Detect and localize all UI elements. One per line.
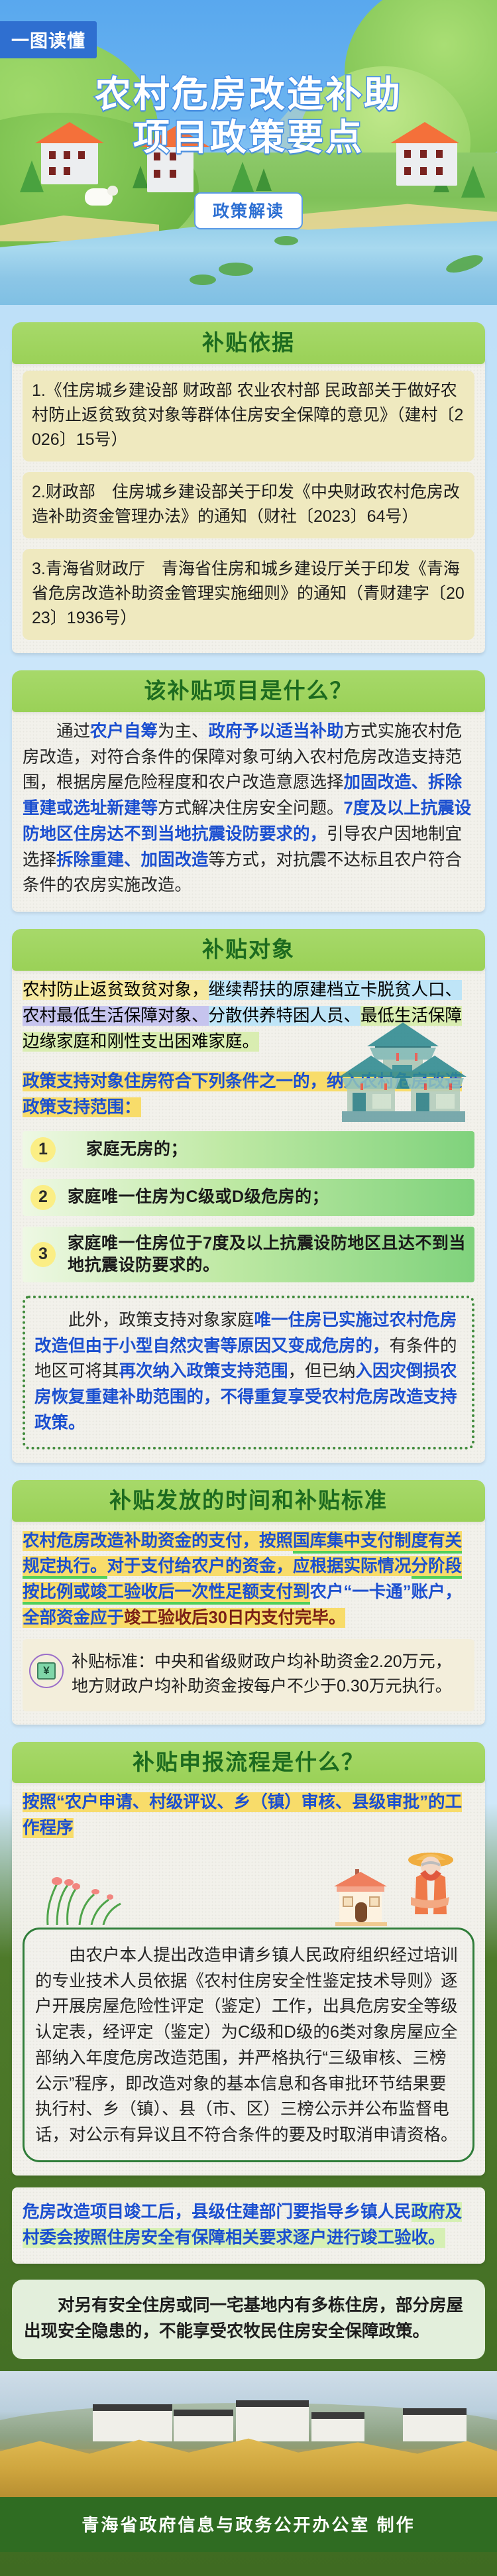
condition-number: 2 <box>30 1185 56 1210</box>
section-what-header: 该补贴项目是什么？ <box>12 670 485 712</box>
section-completion: 危房改造项目竣工后，县级住建部门要指导乡镇人民政府及村委会按照住房安全有保障相关… <box>0 2187 497 2264</box>
hero-banner: 一图读懂 农村危房改造补助 项目政策要点 政策解读 <box>0 0 497 305</box>
target-condition-row: 1 家庭无房的； <box>23 1131 474 1168</box>
highlighted-run: 农村危房改造补助资金的支付，按照 <box>23 1531 293 1551</box>
lilypad-icon <box>190 275 216 285</box>
text-run: 为主、 <box>158 722 209 741</box>
condition-text: 家庭唯一住房为C级或D级危房的； <box>68 1186 329 1208</box>
footer-bar: 青海省政府信息与政务公开办公室 制作 <box>0 2497 497 2552</box>
section-targets-body: 农村防止返贫致贫对象，继续帮扶的原建档立卡脱贫人口、农村最低生活保障对象、分散供… <box>12 965 485 1463</box>
highlighted-run: 农户“一卡通”账户， <box>310 1583 463 1601</box>
page-title: 农村危房改造补助 项目政策要点 <box>0 73 497 159</box>
infographic-page: 一图读懂 农村危房改造补助 项目政策要点 政策解读 补贴依据 1.《住房城乡建设… <box>0 0 497 2576</box>
final-note-card: 对另有安全住房或同一宅基地内有多栋住房，部分房屋出现安全隐患的，不能享受农牧民住… <box>12 2280 485 2359</box>
section-process-header: 补贴申报流程是什么？ <box>12 1742 485 1784</box>
payment-rule-line: 农村危房改造补助资金的支付，按照国库集中支付制度有关规定执行。对于支付给农户的资… <box>23 1528 474 1631</box>
section-targets: 补贴对象 农村防止返贫致贫对象，继续帮扶的原建档立卡脱贫人口、农村最低生活保障对… <box>0 929 497 1462</box>
basis-note-2: 2.财政部 住房城乡建设部关于印发《中央财政农村危房改造补助资金管理办法》的通知… <box>23 472 474 538</box>
lilypad-icon <box>219 263 253 276</box>
money-note-icon: ¥ <box>29 1654 64 1688</box>
section-time-standard-header: 补贴发放的时间和补贴标准 <box>12 1480 485 1522</box>
basis-note-1: 1.《住房城乡建设部 财政部 农业农村部 民政部关于做好农村防止返贫致贫对象等群… <box>23 371 474 461</box>
section-basis-header: 补贴依据 <box>12 322 485 364</box>
subsidy-standard-card: ¥ 补贴标准：中央和省级财政户均补助资金2.20万元，地方财政户均补助资金按每户… <box>23 1639 474 1711</box>
read-in-one-image-badge: 一图读懂 <box>0 21 97 58</box>
section-what-title: 该补贴项目是什么？ <box>19 678 478 704</box>
highlighted-run: 对于支付给农户的资金，应根据实际情况 <box>107 1556 412 1576</box>
farmer-illustration <box>396 1845 465 1928</box>
section-process-body: 按照“农户申请、村级评议、乡（镇）审核、县级审批”的工作程序 <box>12 1778 485 2176</box>
section-targets-title: 补贴对象 <box>19 937 478 962</box>
grass-flowers-icon <box>34 1868 134 1925</box>
photo-house <box>236 2400 309 2441</box>
policy-interpretation-label: 政策解读 <box>194 192 303 229</box>
traditional-house-illustration <box>327 999 478 1125</box>
title-line-2: 项目政策要点 <box>0 116 497 159</box>
title-line-1: 农村危房改造补助 <box>0 73 497 116</box>
target-condition-row: 3 家庭唯一住房位于7度及以上抗震设防地区且达不到当地抗震设防要求的。 <box>23 1227 474 1282</box>
photo-house <box>93 2404 172 2441</box>
completion-inspection-text: 危房改造项目竣工后，县级住建部门要指导乡镇人民政府及村委会按照住房安全有保障相关… <box>23 2199 474 2251</box>
text-run: ，但已纳 <box>288 1362 356 1380</box>
target-condition-row: 2 家庭唯一住房为C级或D级危房的； <box>23 1179 474 1216</box>
targets-extra-paragraph: 此外，政策支持对象家庭唯一住房已实施过农村危房改造但由于小型自然灾害等原因又变成… <box>34 1308 463 1436</box>
condition-number: 1 <box>30 1137 56 1162</box>
tree-icon <box>256 168 272 191</box>
condition-number: 3 <box>30 1242 56 1267</box>
section-time-standard-title: 补贴发放的时间和补贴标准 <box>19 1488 478 1513</box>
process-detail-text: 由农户本人提出改造申请乡镇人民政府组织经过培训的专业技术人员依据《农村住房安全性… <box>35 1943 462 2148</box>
condition-text: 家庭无房的； <box>86 1138 188 1160</box>
text-run: 拆除重建、加固改造 <box>56 851 209 869</box>
condition-text: 家庭唯一住房位于7度及以上抗震设防地区且达不到当地抗震设防要求的。 <box>68 1233 467 1276</box>
footer-credit: 青海省政府信息与政务公开办公室 制作 <box>7 2512 490 2536</box>
house-icon <box>329 1867 392 1926</box>
section-time-standard: 补贴发放的时间和补贴标准 农村危房改造补助资金的支付，按照国库集中支付制度有关规… <box>0 1480 497 1725</box>
highlighted-run: 竣工验收后30日内支付完毕。 <box>124 1608 345 1628</box>
basis-note-3: 3.青海省财政厅 青海省住房和城乡建设厅关于印发《青海省危房改造补助资金管理实施… <box>23 549 474 640</box>
final-note-text: 对另有安全住房或同一宅基地内有多栋住房，部分房屋出现安全隐患的，不能享受农牧民住… <box>24 2293 473 2345</box>
highlighted-run: 危房改造项目竣工后，县级住建部门要指导乡镇人民 <box>23 2203 412 2221</box>
highlighted-run: 继续帮扶的原建档立卡脱贫人口、 <box>209 980 463 1000</box>
section-process: 补贴申报流程是什么？ 按照“农户申请、村级评议、乡（镇）审核、县级审批”的工作程… <box>0 1742 497 2176</box>
process-highlight: 按照“农户申请、村级评议、乡（镇）审核、县级审批”的工作程序 <box>23 1790 474 1841</box>
section-what-paragraph: 通过农户自筹为主、政府予以适当补助方式实施农村危房改造，对符合条件的保障对象可纳… <box>23 719 474 898</box>
section-basis: 补贴依据 1.《住房城乡建设部 财政部 农业农村部 民政部关于做好农村防止返贫致… <box>0 322 497 653</box>
section-basis-body: 1.《住房城乡建设部 财政部 农业农村部 民政部关于做好农村防止返贫致贫对象等群… <box>12 359 485 653</box>
process-illustration <box>23 1845 474 1925</box>
section-what-body: 通过农户自筹为主、政府予以适当补助方式实施农村危房改造，对符合条件的保障对象可纳… <box>12 707 485 912</box>
highlighted-run: 农村防止返贫致贫对象， <box>23 980 209 1000</box>
highlighted-run: 农村最低生活保障对象、 <box>23 1006 209 1026</box>
section-completion-body: 危房改造项目竣工后，县级住建部门要指导乡镇人民政府及村委会按照住房安全有保障相关… <box>12 2187 485 2264</box>
targets-extra-box: 此外，政策支持对象家庭唯一住房已实施过农村危房改造但由于小型自然灾害等原因又变成… <box>23 1296 474 1449</box>
subsidy-standard-text: 补贴标准：中央和省级财政户均补助资金2.20万元，地方财政户均补助资金按每户不少… <box>72 1650 465 1699</box>
tree-icon <box>461 166 485 198</box>
text-run: 方式解决住房安全问题。 <box>158 799 344 818</box>
tree-icon <box>231 162 254 194</box>
section-basis-title: 补贴依据 <box>19 330 478 355</box>
lilypad-icon <box>274 236 298 245</box>
text-run: 通过 <box>56 722 90 741</box>
village-photo <box>0 2371 497 2497</box>
section-what: 该补贴项目是什么？ 通过农户自筹为主、政府予以适当补助方式实施农村危房改造，对符… <box>0 670 497 912</box>
tree-icon <box>133 166 148 188</box>
sheep-icon <box>85 188 113 206</box>
process-detail-box: 由农户本人提出改造申请乡镇人民政府组织经过培训的专业技术人员依据《农村住房安全性… <box>23 1928 474 2162</box>
section-time-standard-body: 农村危房改造补助资金的支付，按照国库集中支付制度有关规定执行。对于支付给农户的资… <box>12 1516 485 1725</box>
section-process-title: 补贴申报流程是什么？ <box>19 1750 478 1775</box>
text-run: 再次纳入政策支持范围 <box>119 1362 288 1380</box>
tree-icon <box>20 160 44 192</box>
highlighted-run: 全部资金应于 <box>23 1608 124 1628</box>
photo-house <box>403 2408 467 2441</box>
photo-house <box>174 2410 233 2441</box>
text-run: 农户自筹 <box>90 722 158 741</box>
text-run: 此外，政策支持对象家庭 <box>68 1311 254 1329</box>
section-targets-header: 补贴对象 <box>12 929 485 971</box>
photo-house <box>311 2412 364 2441</box>
text-run: 政府予以适当补助 <box>209 722 344 741</box>
